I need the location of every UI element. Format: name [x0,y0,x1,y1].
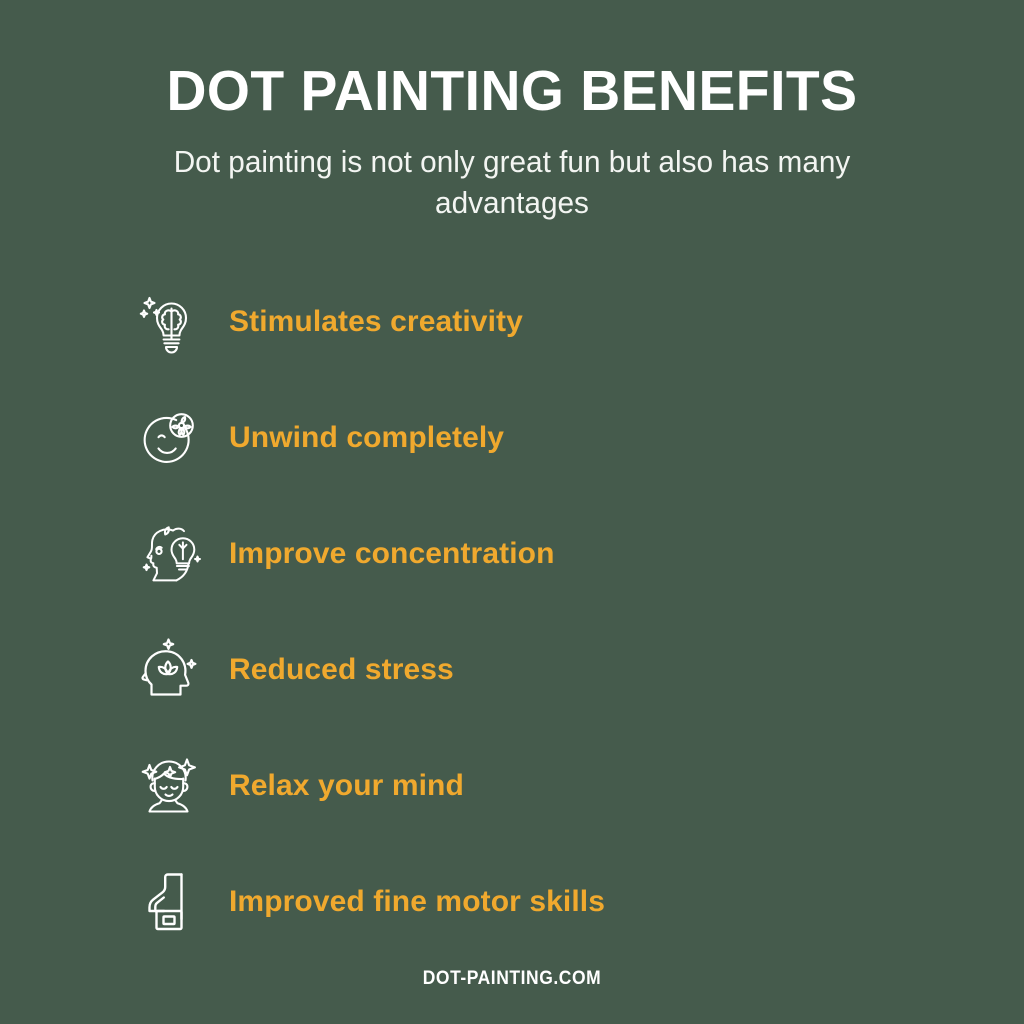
list-item-label: Stimulates creativity [229,305,523,339]
list-item: Relax your mind [135,728,1024,844]
brain-lightbulb-icon [135,286,203,358]
list-item-label: Unwind completely [229,421,504,455]
website-url[interactable]: DOT-PAINTING.COM [423,968,601,990]
page-subtitle: Dot painting is not only great fun but a… [162,142,863,224]
list-item-label: Improved fine motor skills [229,885,605,919]
list-item-label: Improve concentration [229,537,555,571]
page-title: DOT PAINTING BENEFITS [15,62,1008,120]
list-item: Improve concentration [135,496,1024,612]
list-item: Reduced stress [135,612,1024,728]
list-item: Unwind completely [135,380,1024,496]
winking-smiley-flower-icon [135,402,203,474]
list-item: Improved fine motor skills [135,844,1024,960]
poster-header: DOT PAINTING BENEFITS Dot painting is no… [0,0,1024,224]
benefits-list: Stimulates creativity Unwind complet [0,264,1024,960]
list-item-label: Relax your mind [229,769,464,803]
list-item: Stimulates creativity [135,264,1024,380]
poster-footer: DOT-PAINTING.COM [0,968,1024,990]
head-profile-lotus-icon [135,634,203,706]
head-profile-lightbulb-icon [135,518,203,590]
relaxed-face-sparkles-icon [135,750,203,822]
poster-canvas: DOT PAINTING BENEFITS Dot painting is no… [0,0,1024,1024]
list-item-label: Reduced stress [229,653,454,687]
hand-holding-block-icon [135,866,203,938]
